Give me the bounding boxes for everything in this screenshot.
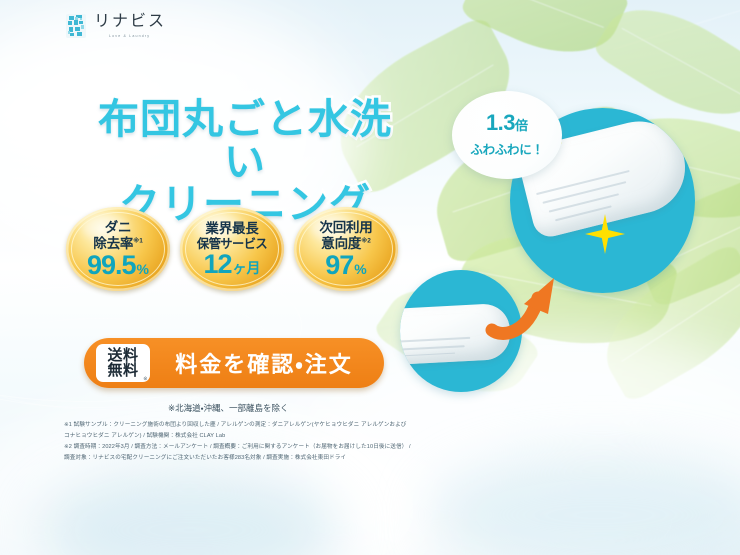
fineprint-line-2: ※2 調査時期：2022年3月 / 調査方法：メールアンケート / 調査概要：ご… xyxy=(64,442,412,464)
check-price-order-button[interactable]: 送料 無料 ※ 料金を確認・注文 xyxy=(84,338,384,388)
fluffiness-text: ふわふわに！ xyxy=(470,139,543,158)
free-shipping-badge: 送料 無料 ※ xyxy=(96,344,150,382)
medal-value: 12 xyxy=(203,252,231,277)
medal-unit: ヶ月 xyxy=(233,262,261,275)
headline-line-1: 布団丸ごと水洗い xyxy=(80,98,410,183)
medal-dust-mite-removal: ダニ 除去率※1 99.5 % xyxy=(66,207,170,291)
fineprint-line-1: ※1 試験サンプル：クリーニング施術の布団より回収した塵 / アレルゲンの測定：… xyxy=(64,420,412,442)
medal-value-group: 12 ヶ月 xyxy=(203,252,260,277)
medal-unit: % xyxy=(354,263,366,276)
medal-storage-service: 業界最長 保管サービス 12 ヶ月 xyxy=(180,207,284,291)
medal-value-group: 99.5 % xyxy=(87,253,149,278)
upgrade-arrow-icon xyxy=(488,258,568,340)
medal-caption: 業界最長 xyxy=(205,221,258,237)
medal-value: 99.5 xyxy=(87,253,136,278)
brand-name: リナビス xyxy=(94,14,166,30)
cta-label: 料金を確認・注文 xyxy=(150,347,384,379)
fluffiness-unit: 倍 xyxy=(515,118,528,133)
free-shipping-line-1: 送料 xyxy=(107,348,138,363)
fluffiness-ratio: 1.3倍 xyxy=(486,112,528,134)
fluffiness-badge: 1.3倍 ふわふわに！ xyxy=(452,91,562,179)
medal-value: 97 xyxy=(325,253,353,278)
hero-banner: リナビス Love & Laundry 布団丸ごと水洗い クリーニング ダニ 除… xyxy=(0,0,740,555)
free-shipping-line-2: 無料 xyxy=(107,363,138,378)
rinavis-mascot-icon xyxy=(65,13,87,39)
free-shipping-asterisk: ※ xyxy=(143,377,148,382)
medal-caption: ダニ xyxy=(105,220,132,236)
medal-unit: % xyxy=(137,263,149,276)
brand-logo[interactable]: リナビス Love & Laundry xyxy=(65,13,166,39)
medal-caption: 次回利用 xyxy=(319,220,372,236)
fluffiness-number: 1.3 xyxy=(486,110,515,135)
stats-medal-group: ダニ 除去率※1 99.5 % 業界最長 保管サービス 12 ヶ月 xyxy=(66,207,398,291)
shipping-disclaimer: ※北海道・沖縄、一部離島を除く xyxy=(168,402,289,414)
medal-value-group: 97 % xyxy=(325,253,367,278)
brand-tagline: Love & Laundry xyxy=(109,34,150,38)
fineprint-block: ※1 試験サンプル：クリーニング施術の布団より回収した塵 / アレルゲンの測定：… xyxy=(64,420,412,464)
medal-repeat-intent: 次回利用 意向度※2 97 % xyxy=(294,207,398,291)
medal-note: ※1 xyxy=(133,238,143,245)
medal-note: ※2 xyxy=(361,238,371,245)
